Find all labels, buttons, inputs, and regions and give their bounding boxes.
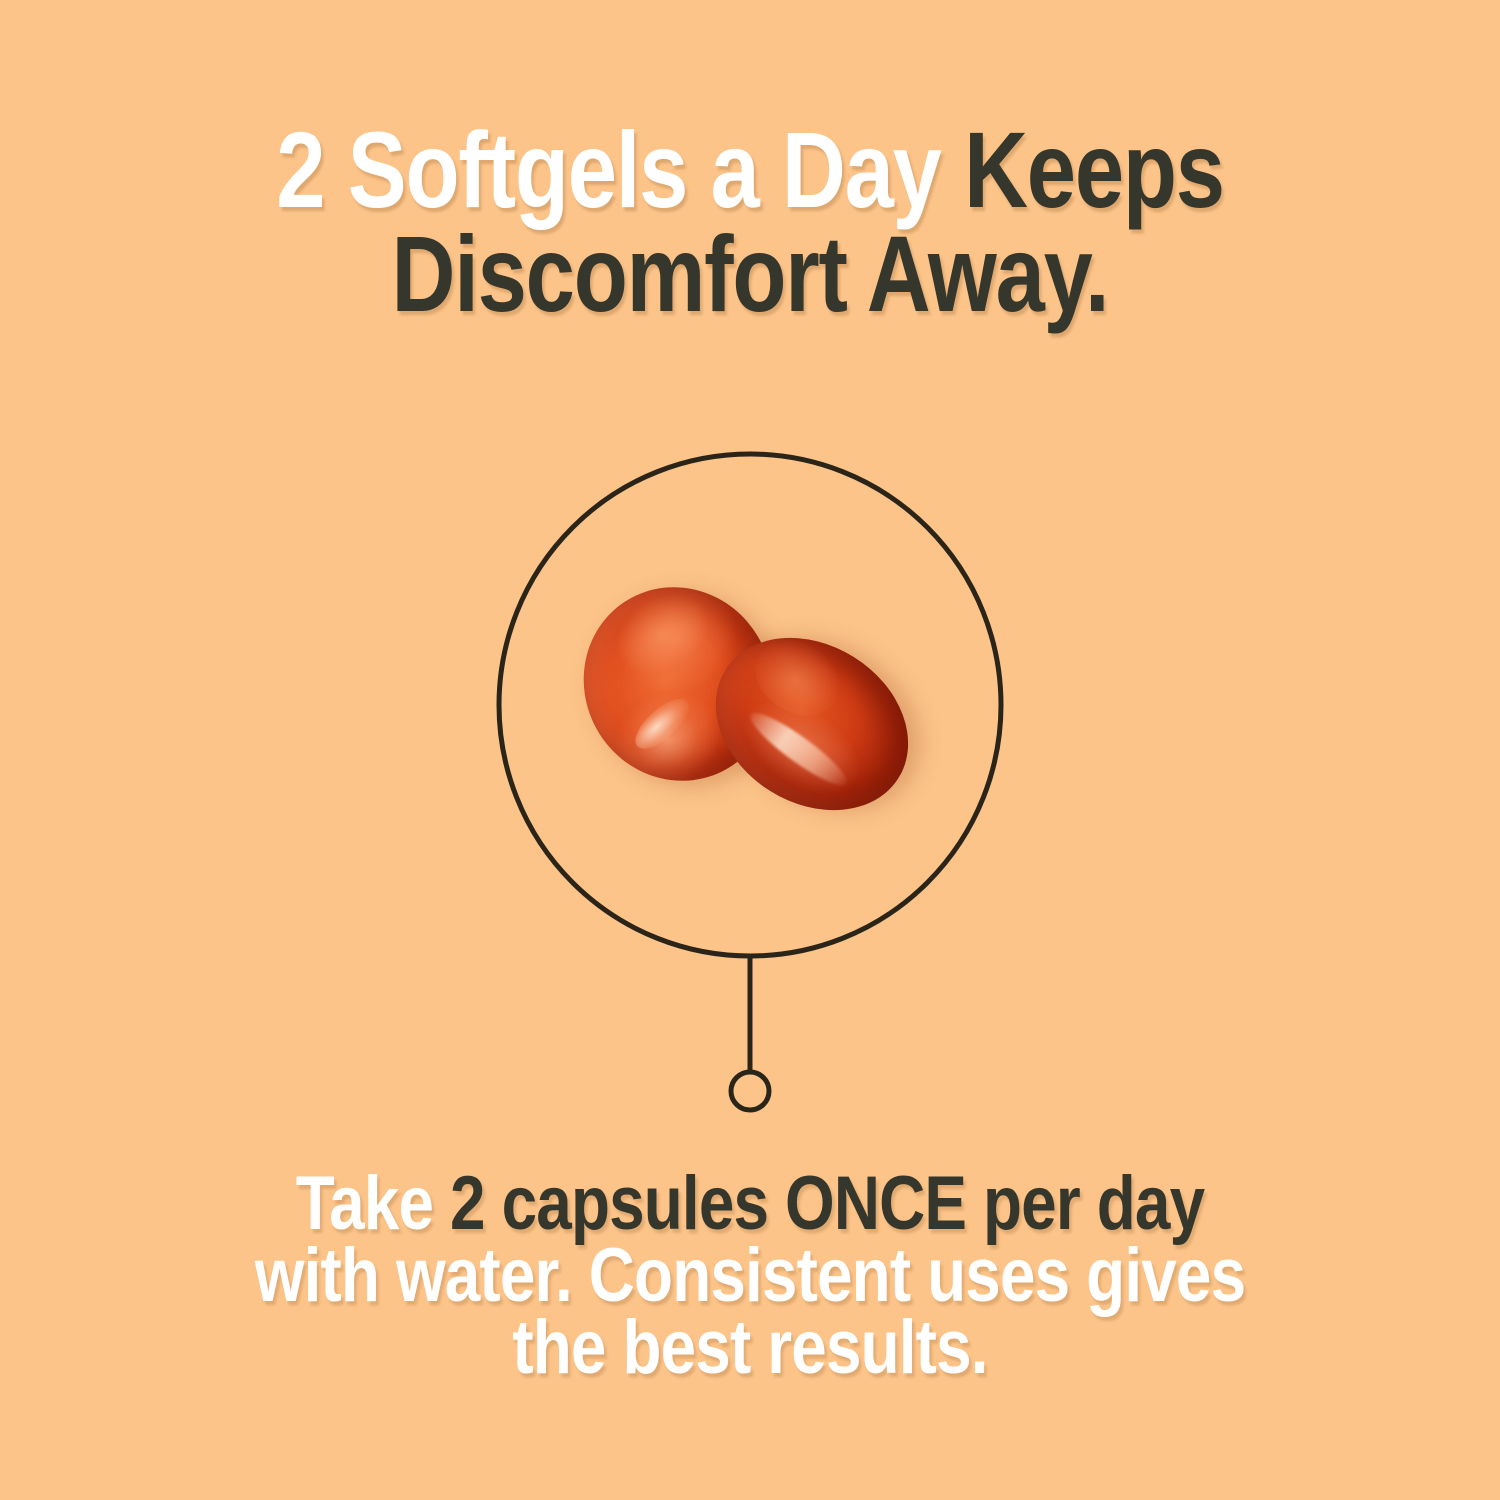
magnifier-knob-icon bbox=[731, 1072, 769, 1110]
instructions-line-2: with water. Consistent uses gives bbox=[120, 1240, 1380, 1312]
dosage-instructions: Take 2 capsules ONCE per day with water.… bbox=[120, 1168, 1380, 1384]
headline-line-1: 2 Softgels a Day Keeps bbox=[135, 118, 1365, 222]
product-infographic-poster: 2 Softgels a Day Keeps Discomfort Away. … bbox=[0, 0, 1500, 1500]
headline-line-2: Discomfort Away. bbox=[135, 222, 1365, 326]
headline-line-1-dark: Keeps bbox=[964, 109, 1224, 230]
page-title: 2 Softgels a Day Keeps Discomfort Away. bbox=[135, 118, 1365, 326]
headline-line-1-light: 2 Softgels a Day bbox=[276, 109, 964, 230]
instructions-line-3: the best results. bbox=[120, 1312, 1380, 1384]
instructions-line-1: Take 2 capsules ONCE per day bbox=[120, 1168, 1380, 1240]
softgel-capsules-group bbox=[497, 452, 1003, 958]
